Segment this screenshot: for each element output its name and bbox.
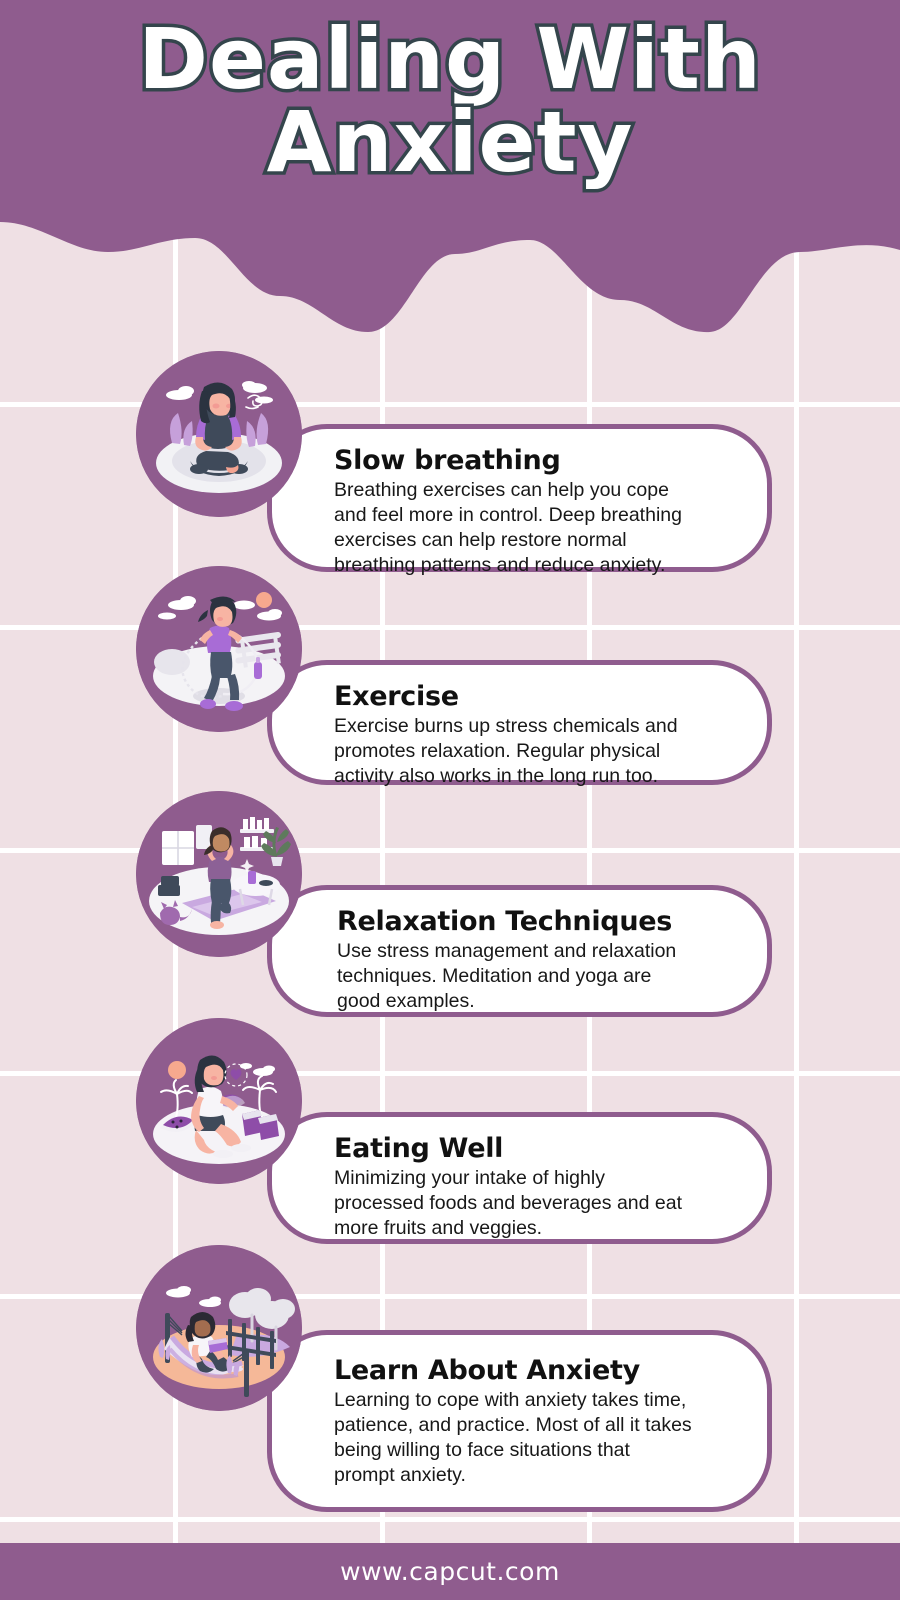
illustration-woman-eating-watermelon (136, 1018, 302, 1184)
infographic-poster: Dealing With Anxiety Slow breathing Brea… (0, 0, 900, 1600)
card-body: Exercise burns up stress chemicals and p… (334, 714, 733, 789)
card-title: Slow breathing (334, 445, 733, 477)
card-learn-about-anxiety[interactable]: Learn About Anxiety Learning to cope wit… (267, 1330, 772, 1512)
woman-yoga-tree-pose-icon (136, 791, 302, 957)
card-title: Relaxation Techniques (337, 906, 733, 938)
woman-eating-watermelon-beach-icon (136, 1018, 302, 1184)
illustration-woman-reading-hammock (136, 1245, 302, 1411)
card-body: Minimizing your intake of highly process… (334, 1166, 733, 1241)
illustration-woman-yoga (136, 791, 302, 957)
page-title: Dealing With Anxiety (0, 18, 900, 184)
woman-jumping-rope-icon (136, 566, 302, 732)
footer-website-label: www.capcut.com (340, 1557, 560, 1586)
card-slow-breathing[interactable]: Slow breathing Breathing exercises can h… (267, 424, 772, 572)
card-body: Breathing exercises can help you cope an… (334, 478, 733, 579)
card-eating-well[interactable]: Eating Well Minimizing your intake of hi… (267, 1112, 772, 1244)
title-line-1: Dealing With (0, 18, 900, 101)
header-banner: Dealing With Anxiety (0, 0, 900, 340)
card-relaxation-techniques[interactable]: Relaxation Techniques Use stress managem… (267, 885, 772, 1017)
card-exercise[interactable]: Exercise Exercise burns up stress chemic… (267, 660, 772, 785)
footer-bar: www.capcut.com (0, 1543, 900, 1600)
card-title: Exercise (334, 681, 733, 713)
card-body: Learning to cope with anxiety takes time… (334, 1388, 733, 1489)
illustration-woman-jumping-rope (136, 566, 302, 732)
woman-meditating-lotus-pose-icon (136, 351, 302, 517)
title-line-2: Anxiety (0, 101, 900, 184)
card-title: Eating Well (334, 1133, 733, 1165)
illustration-woman-meditating (136, 351, 302, 517)
woman-reading-hammock-icon (136, 1245, 302, 1411)
card-title: Learn About Anxiety (334, 1355, 733, 1387)
card-body: Use stress management and relaxation tec… (337, 939, 733, 1014)
